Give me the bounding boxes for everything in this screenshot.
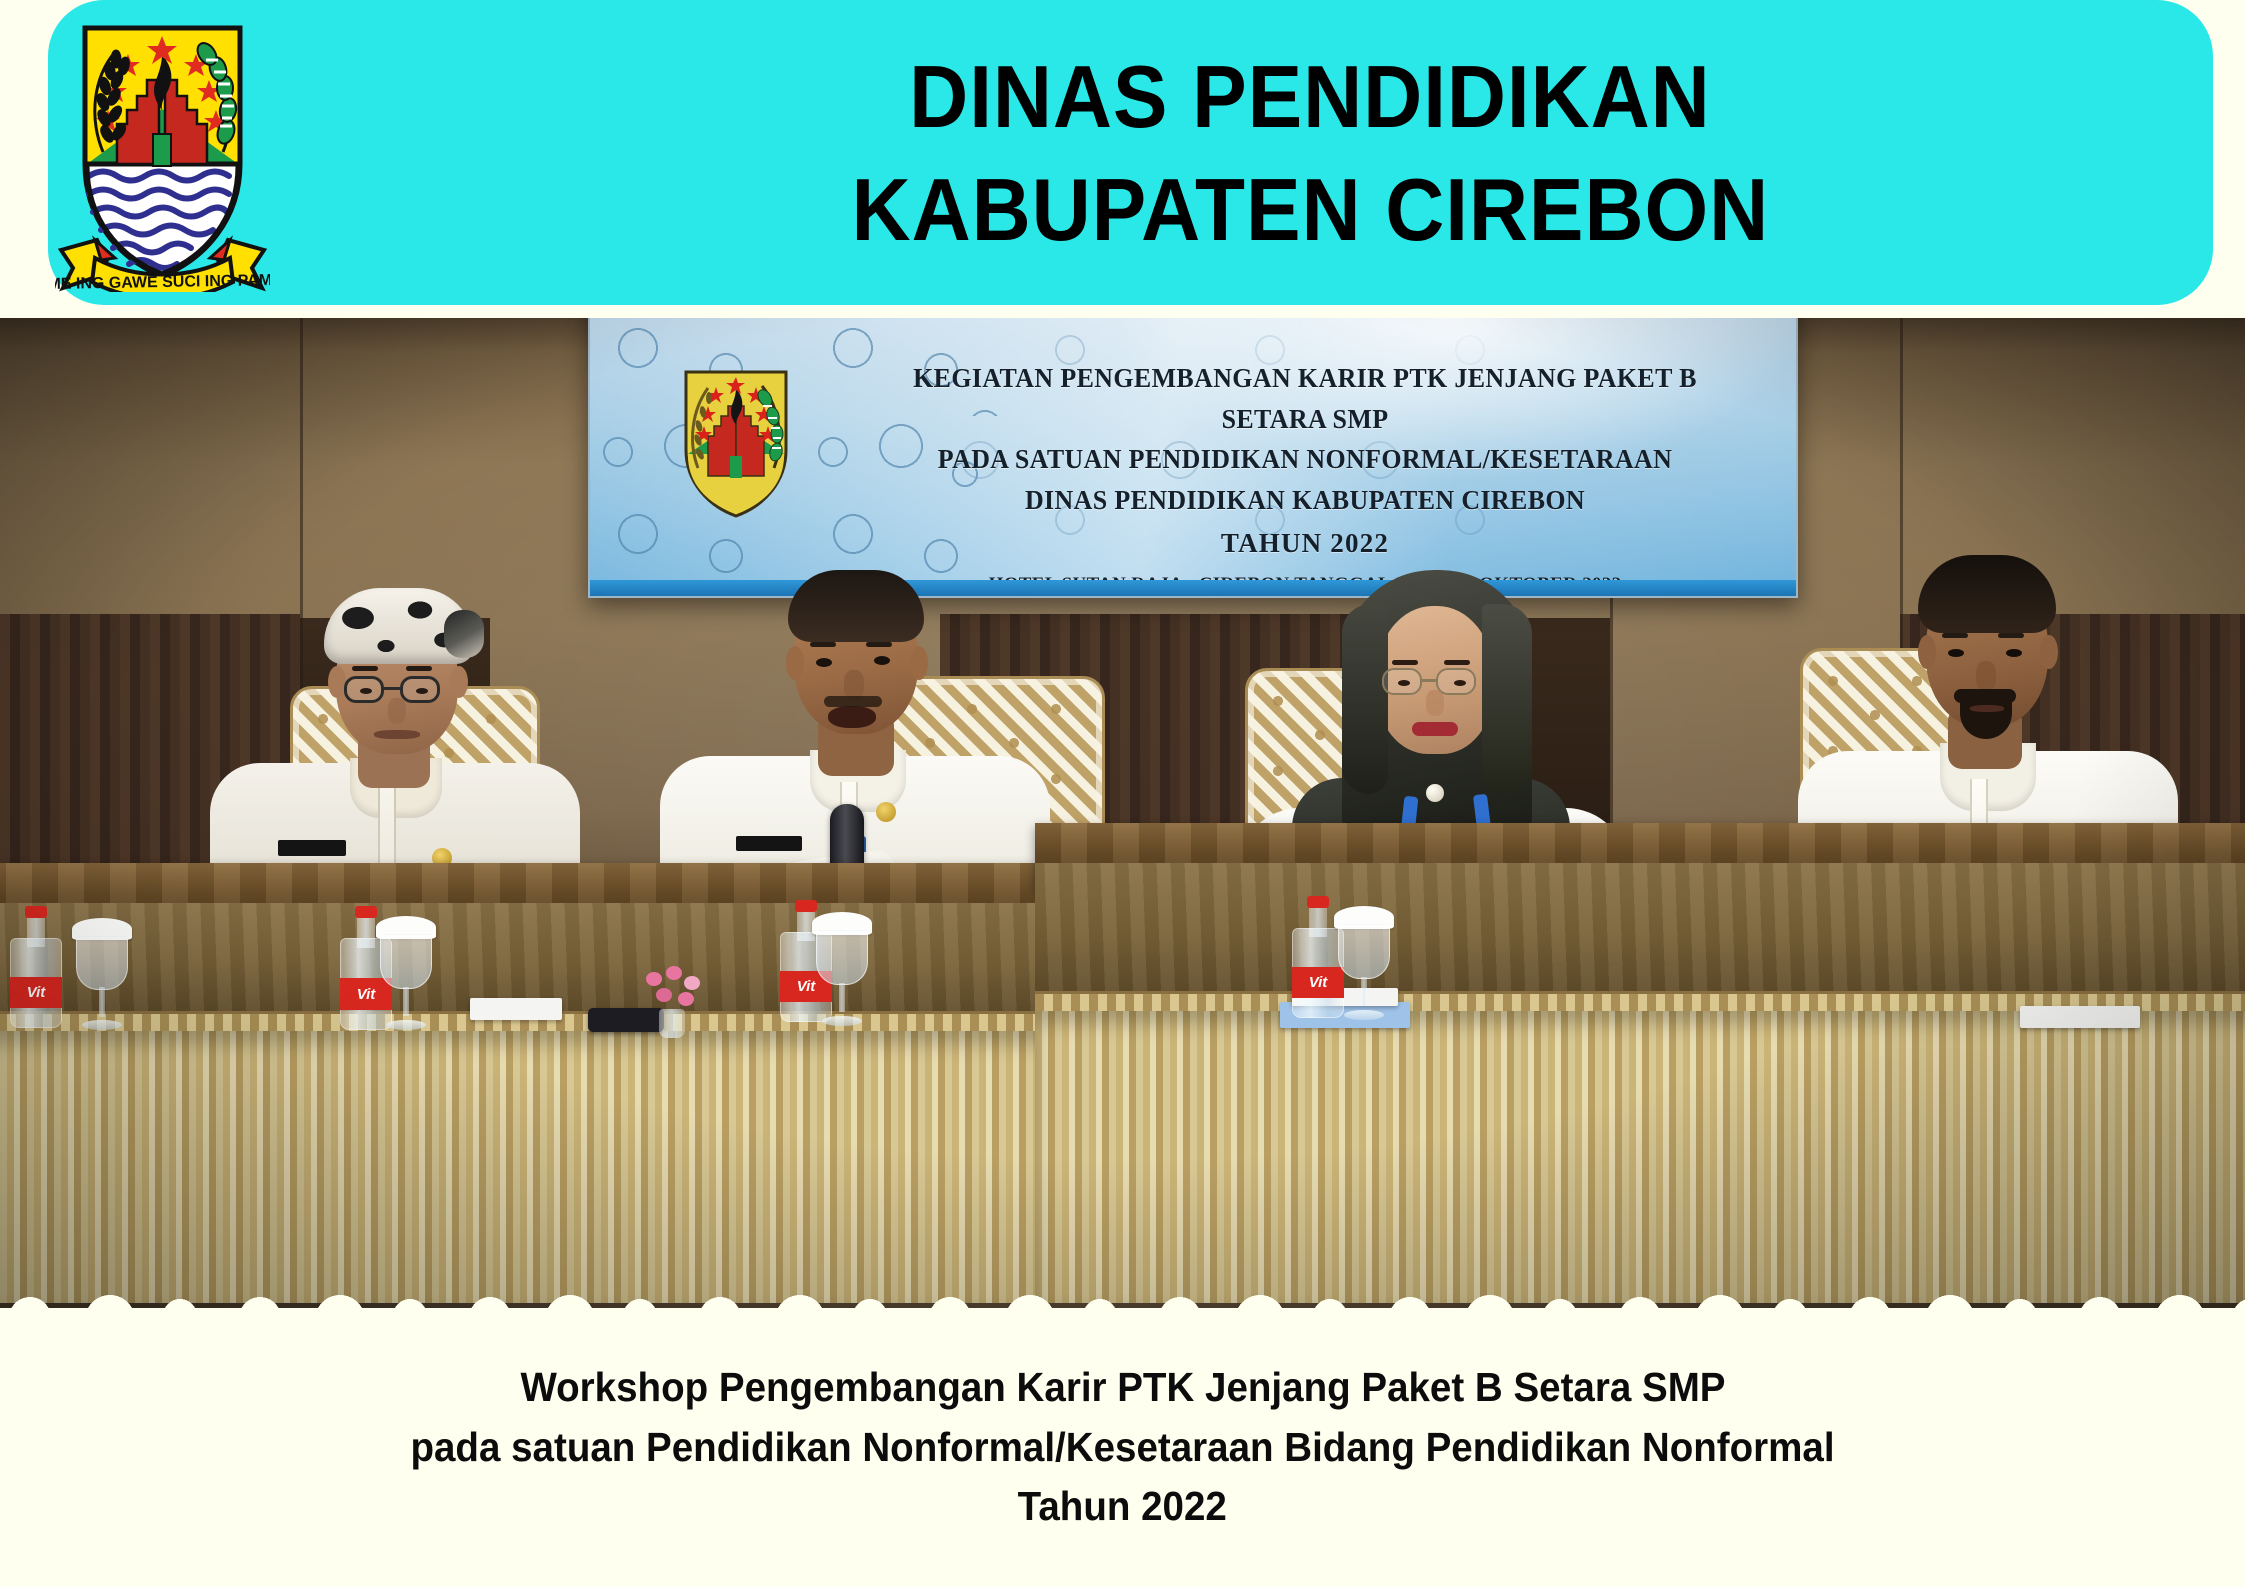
flower-bloom xyxy=(684,976,700,990)
person-1-eye-left xyxy=(360,688,372,694)
banner-line-2: PADA SATUAN PENDIDIKAN NONFORMAL/KESETAR… xyxy=(859,439,1752,480)
bottle-neck xyxy=(1309,906,1328,938)
bottle-label: Vit xyxy=(10,977,62,1009)
person-3-hijab-drape-right xyxy=(1482,604,1532,794)
head-table-right xyxy=(1035,823,2245,1303)
vase-glass xyxy=(659,1009,685,1038)
banner-line-1: KEGIATAN PENGEMBANGAN KARIR PTK JENJANG … xyxy=(859,358,1752,439)
person-4-mouth xyxy=(1970,705,2004,712)
person-3-nose xyxy=(1426,690,1444,716)
goblet-cup xyxy=(1338,924,1390,979)
person-4-hair xyxy=(1918,555,2056,633)
person-1-nametag xyxy=(278,840,346,856)
banner-crest-icon xyxy=(672,364,800,520)
flower-vase xyxy=(640,966,704,1038)
person-2-brow-left xyxy=(810,642,836,647)
person-2-eye-right xyxy=(874,656,890,665)
header-banner: RAME ING GAWE SUCI ING PAMRIH DINAS PEND… xyxy=(0,0,2245,318)
goblet-stem xyxy=(99,987,105,1016)
bottle-brand: Vit xyxy=(1309,974,1328,991)
bottle-brand: Vit xyxy=(357,986,376,1003)
table-right-runner xyxy=(1035,863,2245,993)
goblet-1 xyxy=(76,918,128,1030)
bottle-label: Vit xyxy=(1292,967,1344,999)
head-table-left xyxy=(0,863,1100,1303)
header-title-line-2: KABUPATEN CIREBON xyxy=(851,154,1769,267)
photo-caption: Workshop Pengembangan Karir PTK Jenjang … xyxy=(0,1308,2245,1587)
caption-line-2: pada satuan Pendidikan Nonformal/Kesetar… xyxy=(410,1418,1834,1477)
bottle-cap xyxy=(25,906,48,918)
person-2-eye-left xyxy=(816,658,832,667)
goblet-foot xyxy=(822,1016,862,1026)
goblet-4 xyxy=(1338,906,1390,1020)
table-left-skirt xyxy=(0,1031,1100,1303)
event-photo: KEGIATAN PENGEMBANGAN KARIR PTK JENJANG … xyxy=(0,318,2245,1308)
person-4-brow-right xyxy=(1998,633,2024,638)
goblet-foot xyxy=(82,1020,122,1030)
bottle-brand: Vit xyxy=(27,984,46,1001)
caption-line-1: Workshop Pengembangan Karir PTK Jenjang … xyxy=(520,1358,1725,1417)
goblet-3 xyxy=(816,912,868,1026)
bottle-cap xyxy=(795,900,818,912)
person-2-nametag xyxy=(736,836,802,851)
goblet-2 xyxy=(380,916,432,1030)
person-2-hair xyxy=(788,570,924,642)
page-title: DINAS PENDIDIKAN KABUPATEN CIREBON xyxy=(430,8,2190,300)
person-1-iket-knot xyxy=(444,610,484,658)
goblet-foot xyxy=(386,1020,426,1030)
person-2-emblem-icon xyxy=(876,802,896,822)
goblet-stem xyxy=(839,983,845,1013)
goblet-stem xyxy=(1361,977,1367,1007)
header-title-line-1: DINAS PENDIDIKAN xyxy=(909,41,1711,154)
flower-bloom xyxy=(678,992,694,1006)
water-bottle-1: Vit xyxy=(10,906,62,1028)
papers-right xyxy=(2020,1006,2140,1028)
person-1-brow-left xyxy=(352,666,378,671)
person-3-eye-left xyxy=(1398,680,1410,686)
cirebon-crest-icon: RAME ING GAWE SUCI ING PAMRIH xyxy=(55,14,270,292)
goblet-cup xyxy=(816,930,868,985)
goblet-stem xyxy=(403,987,409,1017)
person-3-brow-left xyxy=(1392,660,1418,665)
person-2-mouth-open xyxy=(828,706,876,728)
table-right-skirt xyxy=(1035,1011,2245,1303)
crest-motto-text: RAME ING GAWE SUCI ING PAMRIH xyxy=(55,272,270,292)
bottle-brand: Vit xyxy=(797,978,816,995)
person-1-nose xyxy=(388,698,406,724)
person-4-eye-right xyxy=(2006,649,2022,657)
person-1-eye-right xyxy=(416,688,428,694)
bottle-neck xyxy=(357,916,376,948)
person-4-nose xyxy=(1976,661,1996,691)
person-4-brow-left xyxy=(1942,633,1968,638)
bottle-cap xyxy=(1307,896,1330,908)
person-4-eye-left xyxy=(1948,649,1964,657)
person-3-lips xyxy=(1412,722,1458,736)
goblet-cup xyxy=(380,934,432,989)
person-2-ear-left xyxy=(786,646,804,680)
goblet-foot xyxy=(1344,1010,1384,1020)
person-2-moustache xyxy=(824,696,882,707)
goblet-cup xyxy=(76,936,128,990)
person-4-ear-right xyxy=(2040,635,2058,669)
person-3-hijab-drape-left xyxy=(1342,604,1388,794)
papers-left xyxy=(470,998,562,1020)
flower-bloom xyxy=(656,988,672,1002)
caption-line-3: Tahun 2022 xyxy=(1018,1477,1227,1536)
person-2-ear-right xyxy=(910,646,928,680)
flower-bloom xyxy=(666,966,682,980)
person-3-brow-right xyxy=(1444,660,1470,665)
table-left-runner xyxy=(0,903,1100,1013)
person-2-brow-right xyxy=(866,642,892,647)
person-4-ear-left xyxy=(1918,635,1936,669)
bottle-cap xyxy=(355,906,378,918)
person-3-hijab-pin xyxy=(1426,784,1444,802)
bottle-neck xyxy=(27,916,46,948)
person-3-eye-right xyxy=(1454,680,1466,686)
flower-bloom xyxy=(646,972,662,986)
person-1-mouth xyxy=(374,730,420,739)
person-1-brow-right xyxy=(406,666,432,671)
